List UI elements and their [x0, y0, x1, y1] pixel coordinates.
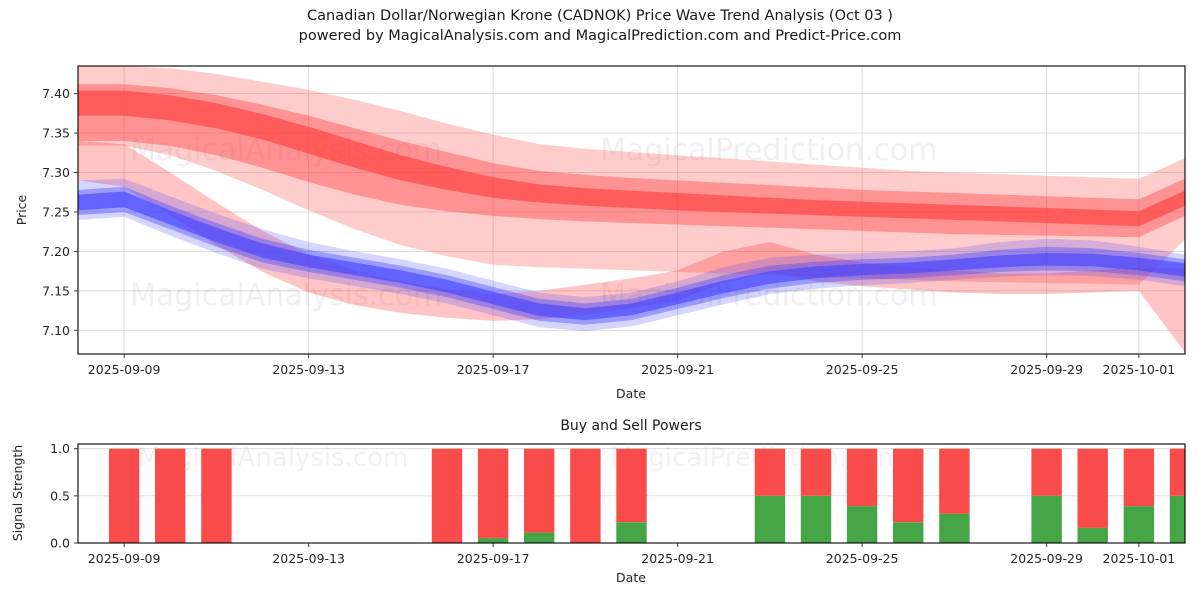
price-ytick-label: 7.15: [42, 283, 70, 298]
figure-canvas: MagicalAnalysis.com MagicalPrediction.co…: [0, 0, 1200, 600]
price-xtick-label: 2025-09-13: [272, 362, 345, 377]
price-x-axis: 2025-09-092025-09-132025-09-172025-09-21…: [88, 354, 1175, 377]
sell-power-bar: [616, 449, 646, 523]
sell-power-bar: [755, 449, 785, 496]
price-xaxis-label: Date: [616, 386, 646, 401]
power-xtick-label: 2025-09-25: [826, 551, 899, 566]
sell-power-bar: [1078, 449, 1108, 528]
price-ytick-label: 7.30: [42, 165, 70, 180]
power-xtick-label: 2025-09-13: [272, 551, 345, 566]
power-xtick-label: 2025-09-09: [88, 551, 161, 566]
power-x-axis: 2025-09-092025-09-132025-09-172025-09-21…: [88, 543, 1175, 566]
sell-power-bar: [939, 449, 969, 514]
sell-power-bar: [570, 449, 600, 543]
power-ytick-label: 1.0: [50, 441, 70, 456]
buy-power-bar: [893, 522, 923, 543]
page-title: Canadian Dollar/Norwegian Krone (CADNOK)…: [0, 6, 1200, 46]
power-xtick-label: 2025-09-29: [1010, 551, 1083, 566]
sell-power-bar: [893, 449, 923, 523]
sell-power-bar: [847, 449, 877, 507]
power-xaxis-label: Date: [616, 570, 646, 585]
power-yaxis-label: Signal Strength: [10, 445, 25, 541]
buy-power-bar: [478, 538, 508, 543]
sell-power-bar: [478, 449, 508, 539]
buy-power-bar: [1124, 506, 1154, 543]
buy-power-bar: [847, 506, 877, 543]
buy-power-bar: [1031, 496, 1061, 543]
price-ytick-label: 7.35: [42, 126, 70, 141]
price-ytick-label: 7.10: [42, 323, 70, 338]
price-ytick-label: 7.40: [42, 86, 70, 101]
power-xtick-label: 2025-09-21: [641, 551, 714, 566]
power-xtick-label: 2025-10-01: [1103, 551, 1176, 566]
power-y-axis: 0.00.51.0: [50, 441, 78, 550]
sell-power-bar: [524, 449, 554, 533]
buy-power-bar: [524, 533, 554, 543]
price-xtick-label: 2025-09-17: [457, 362, 530, 377]
price-yaxis-label: Price: [14, 194, 29, 225]
buy-power-bar: [1078, 528, 1108, 543]
sell-power-bar: [801, 449, 831, 496]
price-chart-panel: MagicalAnalysis.com MagicalPrediction.co…: [14, 66, 1185, 401]
sell-power-bar: [432, 449, 462, 543]
price-y-axis: 7.107.157.207.257.307.357.40: [42, 86, 78, 338]
sell-power-bar: [201, 449, 231, 543]
chart-subtitle: powered by MagicalAnalysis.com and Magic…: [0, 26, 1200, 46]
power-xtick-label: 2025-09-17: [457, 551, 530, 566]
chart-page: Canadian Dollar/Norwegian Krone (CADNOK)…: [0, 0, 1200, 600]
buy-power-bar: [755, 496, 785, 543]
sell-power-bar: [1124, 449, 1154, 507]
sell-power-bar: [1031, 449, 1061, 496]
price-xtick-label: 2025-09-09: [88, 362, 161, 377]
power-ytick-label: 0.0: [50, 536, 70, 551]
buy-power-bar: [939, 514, 969, 543]
price-ytick-label: 7.20: [42, 244, 70, 259]
price-xtick-label: 2025-09-21: [641, 362, 714, 377]
power-ytick-label: 0.5: [50, 488, 70, 503]
price-xtick-label: 2025-10-01: [1103, 362, 1176, 377]
price-xtick-label: 2025-09-29: [1010, 362, 1083, 377]
price-ytick-label: 7.25: [42, 204, 70, 219]
chart-title: Canadian Dollar/Norwegian Krone (CADNOK)…: [0, 6, 1200, 26]
sell-power-bar: [155, 449, 185, 543]
power-chart-panel: Buy and Sell Powers MagicalAnalysis.com …: [10, 418, 1200, 585]
buy-power-bar: [801, 496, 831, 543]
buy-power-bar: [616, 522, 646, 543]
power-chart-title: Buy and Sell Powers: [560, 418, 701, 434]
price-xtick-label: 2025-09-25: [826, 362, 899, 377]
sell-power-bar: [109, 449, 139, 543]
